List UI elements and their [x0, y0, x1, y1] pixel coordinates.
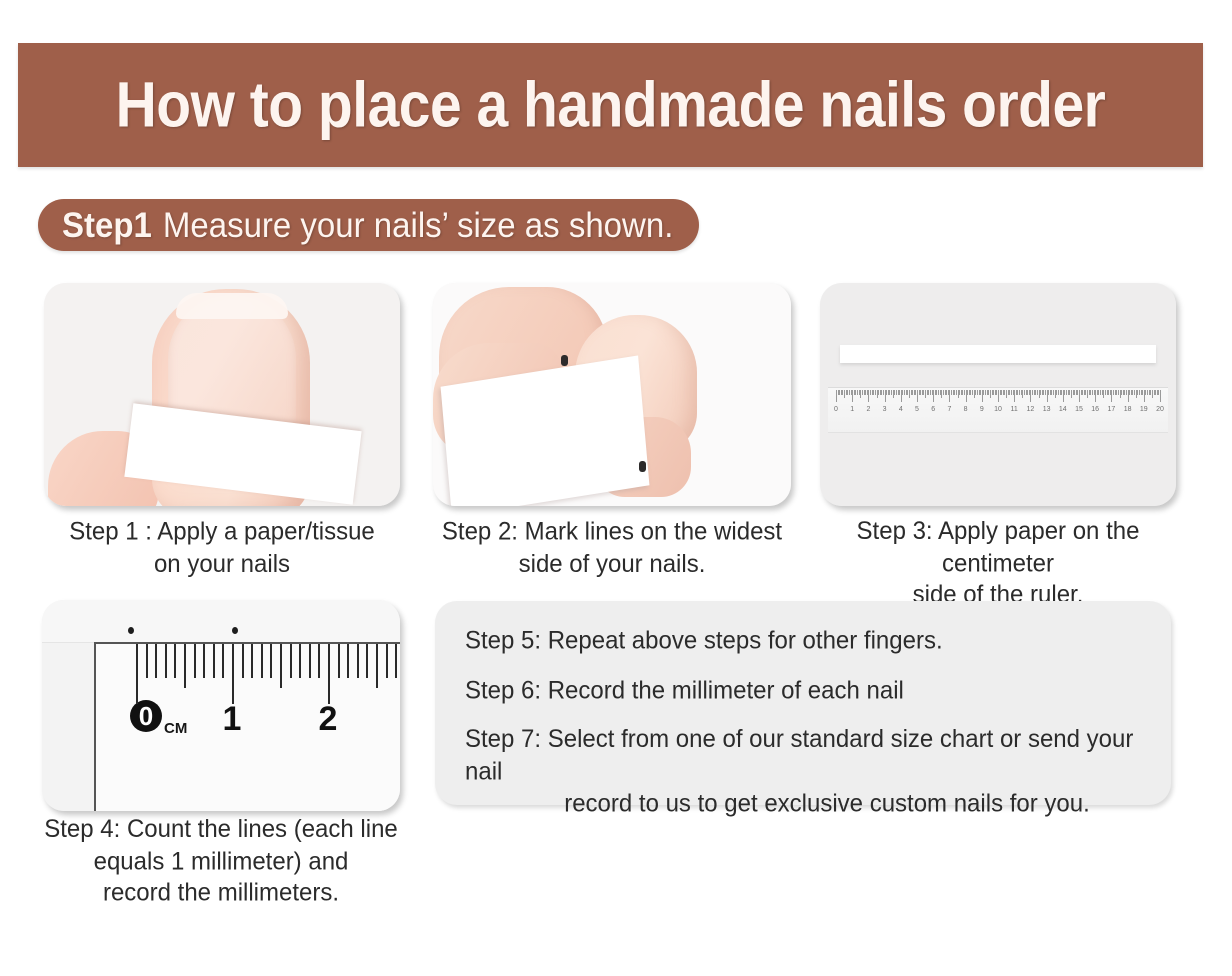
step-7-line: Step 7: Select from one of our standard …: [465, 724, 1149, 821]
step-1-caption-line-1: Step 1 : Apply a paper/tissue: [40, 517, 404, 549]
ruler-centimeter-label: 1: [223, 702, 242, 736]
ruler-number-label: 8: [964, 406, 968, 413]
pen-mark-right-icon: [232, 627, 238, 634]
ruler-number-label: 5: [915, 406, 919, 413]
step1-label: Step1: [62, 204, 152, 245]
ruler-millimeter-tick: [290, 644, 292, 678]
step-2-caption: Step 2: Mark lines on the widest side of…: [428, 517, 796, 581]
ruler-millimeter-tick: [357, 644, 359, 678]
fingernail-tip-shape: [176, 293, 288, 319]
ruler-number-label: 0: [834, 406, 838, 413]
ruler-zero-badge: 0: [130, 700, 162, 732]
step-7-line-2: record to us to get exclusive custom nai…: [465, 788, 1149, 820]
step-4-photo-card: 0 CM 123: [42, 600, 400, 811]
step-2-caption-line-2: side of your nails.: [428, 549, 796, 581]
ruler-millimeter-tick: [213, 644, 215, 678]
step-3-caption: Step 3: Apply paper on the centimeter si…: [812, 516, 1184, 612]
ruler-millimeter-tick: [194, 644, 196, 678]
step-6-line: Step 6: Record the millimeter of each na…: [465, 675, 1149, 707]
step-4-caption: Step 4: Count the lines (each line equal…: [32, 814, 410, 910]
ruler-millimeter-tick: [338, 644, 340, 678]
ruler-centimeter-label: 2: [319, 702, 338, 736]
ruler-number-label: 19: [1140, 406, 1148, 413]
step-2-caption-line-1: Step 2: Mark lines on the widest: [428, 517, 796, 549]
ruler-millimeter-tick: [203, 644, 205, 678]
ruler-number-label: 11: [1011, 406, 1018, 413]
ruler-number-label: 9: [980, 406, 984, 413]
ruler-unit-label: CM: [164, 720, 187, 737]
ruler-millimeter-tick: [270, 644, 272, 678]
ruler-closeup-graphic: 0 CM 123: [94, 642, 400, 811]
ruler-millimeter-tick: [146, 644, 148, 678]
ruler-millimeter-tick: [299, 644, 301, 678]
ruler-millimeter-tick: [395, 644, 397, 678]
ruler-millimeter-tick: [174, 644, 176, 678]
ruler-number-label: 18: [1124, 406, 1132, 413]
ruler-number-label: 16: [1091, 406, 1099, 413]
step-7-line-1: Step 7: Select from one of our standard …: [465, 726, 1133, 787]
ruler-millimeter-tick: [251, 644, 253, 678]
ruler-millimeter-tick: [155, 644, 157, 678]
ruler-millimeter-tick: [136, 644, 138, 704]
step1-instruction: Measure your nails’ size as shown.: [163, 204, 674, 245]
ruler-millimeter-tick: [280, 644, 282, 688]
ruler-millimeter-tick: [261, 644, 263, 678]
step-3-photo-card: 01234567891011121314151617181920: [820, 283, 1176, 506]
paper-over-ruler-shape: [42, 600, 400, 643]
paper-strip-on-ruler-shape: [840, 345, 1156, 363]
step-4-caption-line-2: equals 1 millimeter) and: [32, 846, 410, 878]
pen-mark-upper-icon: [561, 355, 568, 366]
ruler-number-label: 20: [1156, 406, 1164, 413]
step-2-photo-card: [433, 283, 791, 506]
step-1-caption-line-2: on your nails: [40, 549, 404, 581]
ruler-number-label: 2: [866, 406, 870, 413]
step-4-caption-line-3: record the millimeters.: [32, 878, 410, 910]
step-1-caption: Step 1 : Apply a paper/tissue on your na…: [40, 517, 404, 581]
ruler-millimeter-tick: [318, 644, 320, 678]
ruler-millimeter-tick: [184, 644, 186, 688]
small-ruler-graphic: 01234567891011121314151617181920: [828, 387, 1168, 433]
ruler-millimeter-tick: [309, 644, 311, 678]
step-1-photo-card: [44, 283, 400, 506]
ruler-number-label: 3: [883, 406, 887, 413]
ruler-millimeter-tick: [347, 644, 349, 678]
ruler-number-label: 13: [1043, 406, 1051, 413]
ruler-millimeter-tick: [222, 644, 224, 678]
step-5-line: Step 5: Repeat above steps for other fin…: [465, 624, 1149, 656]
ruler-number-label: 14: [1059, 406, 1067, 413]
ruler-tick: [1160, 390, 1161, 402]
ruler-millimeter-tick: [242, 644, 244, 678]
ruler-number-label: 10: [994, 406, 1002, 413]
ruler-number-label: 12: [1026, 406, 1034, 413]
page-header-banner: How to place a handmade nails order: [18, 43, 1203, 167]
step-4-caption-line-1: Step 4: Count the lines (each line: [32, 814, 410, 846]
ruler-millimeter-tick: [366, 644, 368, 678]
ruler-millimeter-tick: [232, 644, 234, 704]
steps-5-to-7-panel: Step 5: Repeat above steps for other fin…: [435, 601, 1171, 805]
page-title: How to place a handmade nails order: [116, 68, 1106, 142]
pen-mark-lower-icon: [639, 461, 646, 472]
ruler-number-label: 1: [850, 406, 854, 413]
ruler-millimeter-tick: [165, 644, 167, 678]
step1-banner: Step1 Measure your nails’ size as shown.: [38, 199, 699, 251]
ruler-millimeter-tick: [376, 644, 378, 688]
step-3-caption-line-1: Step 3: Apply paper on the centimeter: [812, 516, 1184, 580]
pen-mark-left-icon: [128, 627, 134, 634]
ruler-number-label: 17: [1107, 406, 1115, 413]
ruler-number-label: 7: [947, 406, 951, 413]
ruler-millimeter-tick: [328, 644, 330, 704]
ruler-number-label: 6: [931, 406, 935, 413]
ruler-number-label: 15: [1075, 406, 1083, 413]
ruler-number-label: 4: [899, 406, 903, 413]
ruler-millimeter-tick: [386, 644, 388, 678]
